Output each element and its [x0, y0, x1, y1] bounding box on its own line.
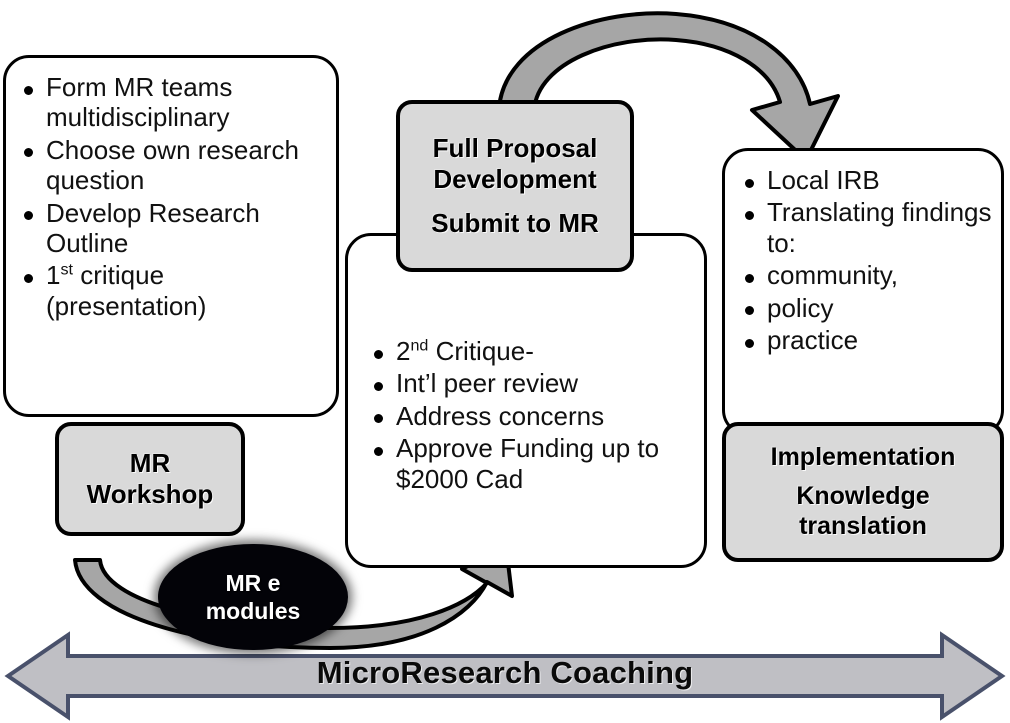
list-item: Approve Funding up to $2000 Cad: [370, 433, 694, 494]
ordinal-suffix: st: [60, 261, 73, 279]
stage-one-list: Form MR teams multidisciplinary Choose o…: [20, 72, 326, 321]
list-item: Develop Research Outline: [20, 198, 326, 259]
stage-one-box: Form MR teams multidisciplinary Choose o…: [3, 55, 339, 417]
full-proposal-line-3: Submit to MR: [431, 208, 599, 239]
ordinal-suffix: nd: [410, 336, 428, 354]
full-proposal-line-2: Development: [433, 164, 596, 195]
mr-workshop-line-2: Workshop: [87, 479, 214, 510]
full-proposal-line-1: Full Proposal: [433, 133, 598, 164]
list-item: Translating findings to:: [741, 197, 993, 258]
mr-emodules-oval: MR e modules: [158, 544, 348, 650]
implementation-line-3: translation: [799, 512, 927, 542]
list-item: Form MR teams multidisciplinary: [20, 72, 326, 133]
list-item: 2nd Critique-: [370, 336, 694, 366]
stage-two-box: 2nd Critique- Int’l peer review Address …: [345, 233, 707, 568]
mr-workshop-line-1: MR: [130, 448, 170, 479]
list-item: Int’l peer review: [370, 368, 694, 398]
list-item: Local IRB: [741, 165, 993, 195]
list-item: Choose own research question: [20, 135, 326, 196]
list-item: 1st critique (presentation): [20, 260, 326, 321]
mr-emodules-line-2: modules: [206, 597, 301, 625]
implementation-line-1: Implementation: [771, 443, 956, 473]
list-item: Address concerns: [370, 401, 694, 431]
full-proposal-box: Full Proposal Development Submit to MR: [396, 100, 634, 272]
diagram-canvas: Form MR teams multidisciplinary Choose o…: [0, 0, 1010, 723]
mr-workshop-box: MR Workshop: [55, 422, 245, 536]
list-item: policy: [741, 293, 993, 323]
stage-three-list: Local IRB Translating findings to: commu…: [741, 165, 993, 355]
stage-three-box: Local IRB Translating findings to: commu…: [722, 148, 1004, 436]
stage-two-list: 2nd Critique- Int’l peer review Address …: [370, 336, 694, 494]
coaching-banner-label: MicroResearch Coaching: [0, 655, 1010, 691]
list-item: community,: [741, 260, 993, 290]
implementation-line-2: Knowledge: [796, 482, 929, 512]
list-item: practice: [741, 325, 993, 355]
coaching-banner-arrow: [8, 635, 1002, 717]
implementation-box: Implementation Knowledge translation: [722, 422, 1004, 562]
mr-emodules-line-1: MR e: [226, 569, 281, 597]
